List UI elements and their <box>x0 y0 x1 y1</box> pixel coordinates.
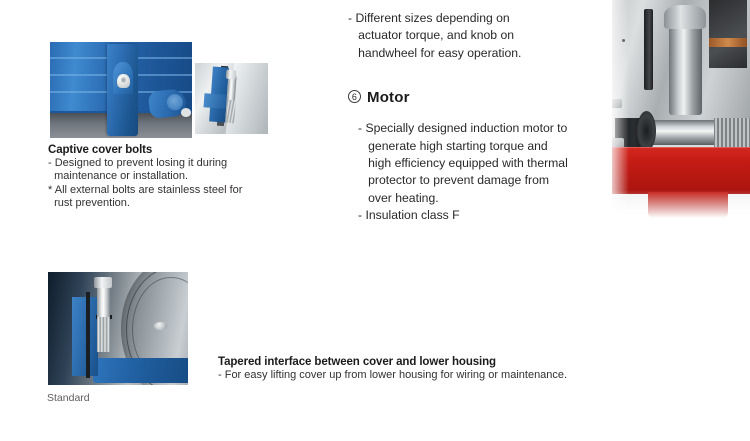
bolt-head <box>226 70 237 80</box>
bolt-head <box>94 277 112 288</box>
section-number-circle-icon: 6 <box>348 90 361 103</box>
handwheel-line: actuator torque, and knob on <box>348 27 603 44</box>
standard-caption: Standard <box>47 388 90 406</box>
motor-line: protector to prevent damage from <box>358 172 603 189</box>
handwheel-line: handwheel for easy operation. <box>348 45 603 62</box>
motor-cap <box>664 5 705 30</box>
right-column-text: - Different sizes depending on actuator … <box>348 10 603 225</box>
captive-bolts-heading: Captive cover bolts <box>48 143 318 157</box>
tapered-heading: Tapered interface between cover and lowe… <box>218 355 648 369</box>
terminal-block <box>709 0 748 68</box>
motor-line: over heating. <box>358 190 603 207</box>
captive-bolt-head <box>117 74 129 88</box>
captive-bolts-line: * All external bolts are stainless steel… <box>48 184 318 197</box>
tapered-line: - For easy lifting cover up from lower h… <box>218 369 648 382</box>
copper-winding <box>709 38 748 47</box>
standard-label: Standard <box>47 392 90 404</box>
captive-bolts-line: - Designed to prevent losing it during <box>48 157 318 170</box>
motor-cutaway-photo <box>612 0 750 226</box>
worm-gear-teeth <box>714 118 750 147</box>
motor-line: - Specially designed induction motor to <box>358 120 603 137</box>
motor-line: generate high starting torque and <box>358 138 603 155</box>
captive-bolts-text-block: Captive cover bolts - Designed to preven… <box>48 143 318 211</box>
red-housing-body <box>612 147 750 194</box>
secondary-bolt-head <box>154 322 167 330</box>
motor-section-heading: 6Motor <box>348 89 603 107</box>
tapered-text-block: Tapered interface between cover and lowe… <box>218 355 648 382</box>
photo-edge-fade <box>612 190 750 226</box>
product-brochure-page: Captive cover bolts - Designed to preven… <box>0 0 750 441</box>
handwheel-line: - Different sizes depending on <box>348 10 603 27</box>
motor-bullets: - Specially designed induction motor to … <box>358 120 603 224</box>
cutaway-edge <box>86 292 90 378</box>
internal-black-bar <box>644 9 654 90</box>
motor-line: - Insulation class F <box>358 207 603 224</box>
captive-bolt-detail-figure <box>195 63 268 134</box>
side-nub <box>181 108 191 117</box>
motor-line: high efficiency equipped with thermal <box>358 155 603 172</box>
tapered-interface-figure <box>48 272 188 385</box>
captive-bolts-line: maintenance or installation. <box>48 170 318 183</box>
motor-title: Motor <box>367 89 410 106</box>
blue-base-flange <box>93 358 188 383</box>
captive-bolt-wide-figure <box>50 42 192 138</box>
captive-bolts-line: rust prevention. <box>48 197 318 210</box>
blue-cover-foot <box>203 93 226 109</box>
bolt-thread <box>97 317 110 352</box>
